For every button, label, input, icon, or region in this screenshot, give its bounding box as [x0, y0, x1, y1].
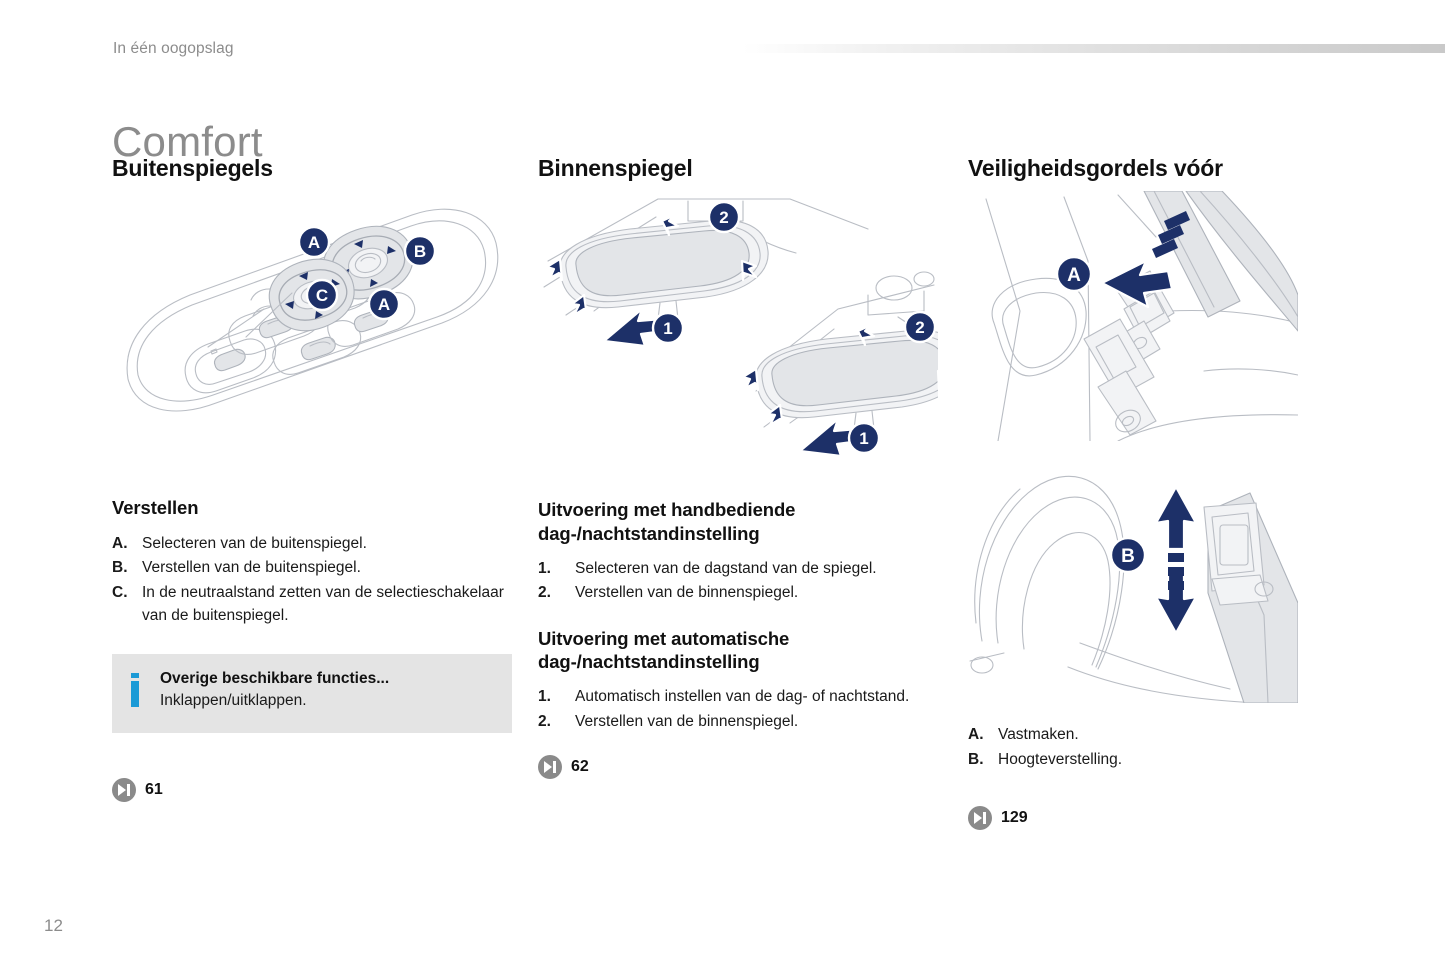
column-heading-binnenspiegel: Binnenspiegel — [538, 155, 938, 181]
svg-text:A: A — [1067, 265, 1081, 286]
subsection-automatische: Uitvoering met automatische dag-/nachtst… — [538, 627, 938, 733]
page-header: In één oogopslag — [0, 0, 1445, 80]
list-marker: 1. — [538, 557, 575, 581]
page-ref-number: 129 — [1001, 809, 1028, 827]
info-box-text: Inklappen/uitklappen. — [160, 690, 496, 712]
illustration-interior-rearview-mirrors: 2 1 2 1 — [538, 191, 938, 466]
list-text: Selecteren van de dagstand van de spiege… — [575, 557, 938, 581]
list-text: Verstellen van de binnenspiegel. — [575, 581, 938, 605]
column-veiligheidsgordels: Veiligheidsgordels vóór — [968, 155, 1313, 830]
svg-text:C: C — [316, 286, 328, 305]
svg-text:1: 1 — [859, 429, 868, 448]
list-item: C. In de neutraalstand zetten van de sel… — [112, 581, 512, 628]
list-handbediende: 1. Selecteren van de dagstand van de spi… — [538, 557, 938, 605]
list-marker: A. — [968, 723, 998, 747]
header-gradient-rule — [742, 44, 1445, 53]
svg-text:1: 1 — [663, 319, 672, 338]
list-marker: B. — [968, 748, 998, 772]
illustration-seatbelt-height-adjust: B — [968, 453, 1313, 703]
list-item: A. Selecteren van de buitenspiegel. — [112, 532, 512, 556]
list-item: 1. Automatisch instellen van de dag- of … — [538, 685, 938, 709]
info-box-title: Overige beschikbare functies... — [160, 668, 496, 690]
list-text: Automatisch instellen van de dag- of nac… — [575, 685, 938, 709]
page-ref-129[interactable]: 129 — [968, 806, 1313, 830]
subheading-verstellen: Verstellen — [112, 496, 512, 519]
list-text: Selecteren van de buitenspiegel. — [142, 532, 512, 556]
list-veiligheidsgordels: A. Vastmaken. B. Hoogteverstelling. — [968, 723, 1313, 771]
list-item: B. Verstellen van de buitenspiegel. — [112, 556, 512, 580]
list-verstellen: A. Selecteren van de buitenspiegel. B. V… — [112, 532, 512, 628]
svg-text:A: A — [308, 233, 320, 252]
list-item: 1. Selecteren van de dagstand van de spi… — [538, 557, 938, 581]
list-text: Verstellen van de binnenspiegel. — [575, 710, 938, 734]
column-heading-buitenspiegels: Buitenspiegels — [112, 155, 512, 181]
svg-text:2: 2 — [915, 318, 924, 337]
skip-forward-icon — [968, 806, 992, 830]
skip-forward-icon — [538, 755, 562, 779]
subsection-handbediende: Uitvoering met handbediende dag-/nachtst… — [538, 498, 938, 604]
svg-text:B: B — [1121, 546, 1135, 567]
list-text: Hoogteverstelling. — [998, 748, 1313, 772]
svg-text:2: 2 — [719, 208, 728, 227]
illustration-seatbelt-buckle-fasten: A — [968, 191, 1313, 441]
list-marker: C. — [112, 581, 142, 605]
list-marker: 1. — [538, 685, 575, 709]
list-automatische: 1. Automatisch instellen van de dag- of … — [538, 685, 938, 733]
subsection-verstellen: Verstellen A. Selecteren van de buitensp… — [112, 496, 512, 627]
list-item: 2. Verstellen van de binnenspiegel. — [538, 581, 938, 605]
list-item: B. Hoogteverstelling. — [968, 748, 1313, 772]
page-ref-number: 62 — [571, 758, 589, 776]
svg-text:A: A — [378, 295, 390, 314]
list-item: A. Vastmaken. — [968, 723, 1313, 747]
skip-forward-icon — [112, 778, 136, 802]
list-text: In de neutraalstand zetten van de select… — [142, 581, 512, 628]
list-item: 2. Verstellen van de binnenspiegel. — [538, 710, 938, 734]
list-marker: B. — [112, 556, 142, 580]
svg-text:B: B — [414, 242, 426, 261]
page-number: 12 — [44, 916, 63, 936]
page-ref-number: 61 — [145, 781, 163, 799]
column-binnenspiegel: Binnenspiegel 2 1 — [538, 155, 938, 779]
list-text: Vastmaken. — [998, 723, 1313, 747]
info-box-overige-functies: Overige beschikbare functies... Inklappe… — [112, 654, 512, 733]
list-marker: 2. — [538, 710, 575, 734]
section-kicker: In één oogopslag — [113, 40, 234, 58]
list-marker: 2. — [538, 581, 575, 605]
info-icon — [130, 673, 139, 707]
column-buitenspiegels: Buitenspiegels — [112, 155, 512, 802]
list-text: Verstellen van de buitenspiegel. — [142, 556, 512, 580]
subheading-automatische: Uitvoering met automatische dag-/nachtst… — [538, 627, 938, 673]
illustration-door-mirror-control-panel: A B C A — [112, 191, 512, 461]
page-ref-61[interactable]: 61 — [112, 778, 512, 802]
column-heading-veiligheidsgordels: Veiligheidsgordels vóór — [968, 155, 1313, 181]
subheading-handbediende: Uitvoering met handbediende dag-/nachtst… — [538, 498, 938, 544]
list-marker: A. — [112, 532, 142, 556]
page-ref-62[interactable]: 62 — [538, 755, 938, 779]
